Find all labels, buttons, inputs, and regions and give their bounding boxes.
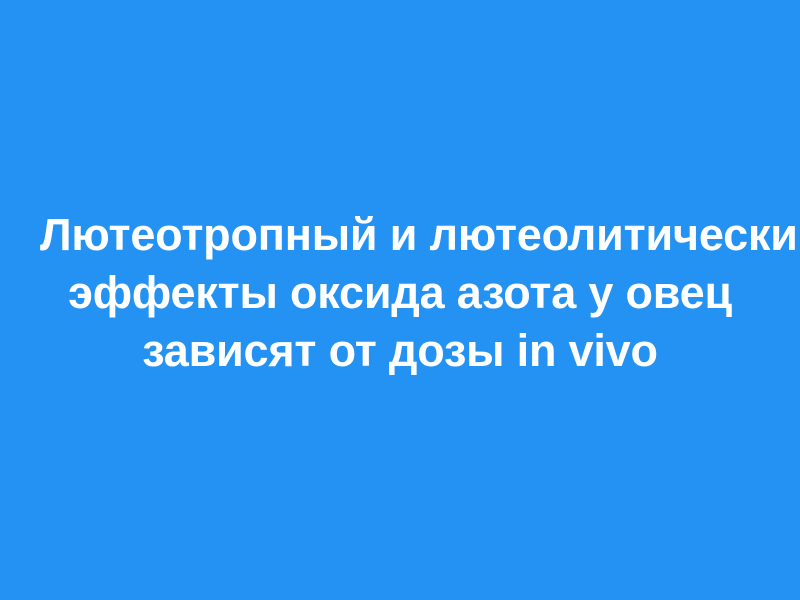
title-card: Лютеотропный и лютеолитический эффекты о…	[0, 0, 800, 600]
title-line-3: зависят от дозы in vivo	[40, 322, 760, 380]
title-line-1: Лютеотропный и лютеолитический	[40, 206, 760, 264]
title-line-2: эффекты оксида азота у овец	[40, 264, 760, 322]
page-title: Лютеотропный и лютеолитический эффекты о…	[0, 206, 800, 380]
